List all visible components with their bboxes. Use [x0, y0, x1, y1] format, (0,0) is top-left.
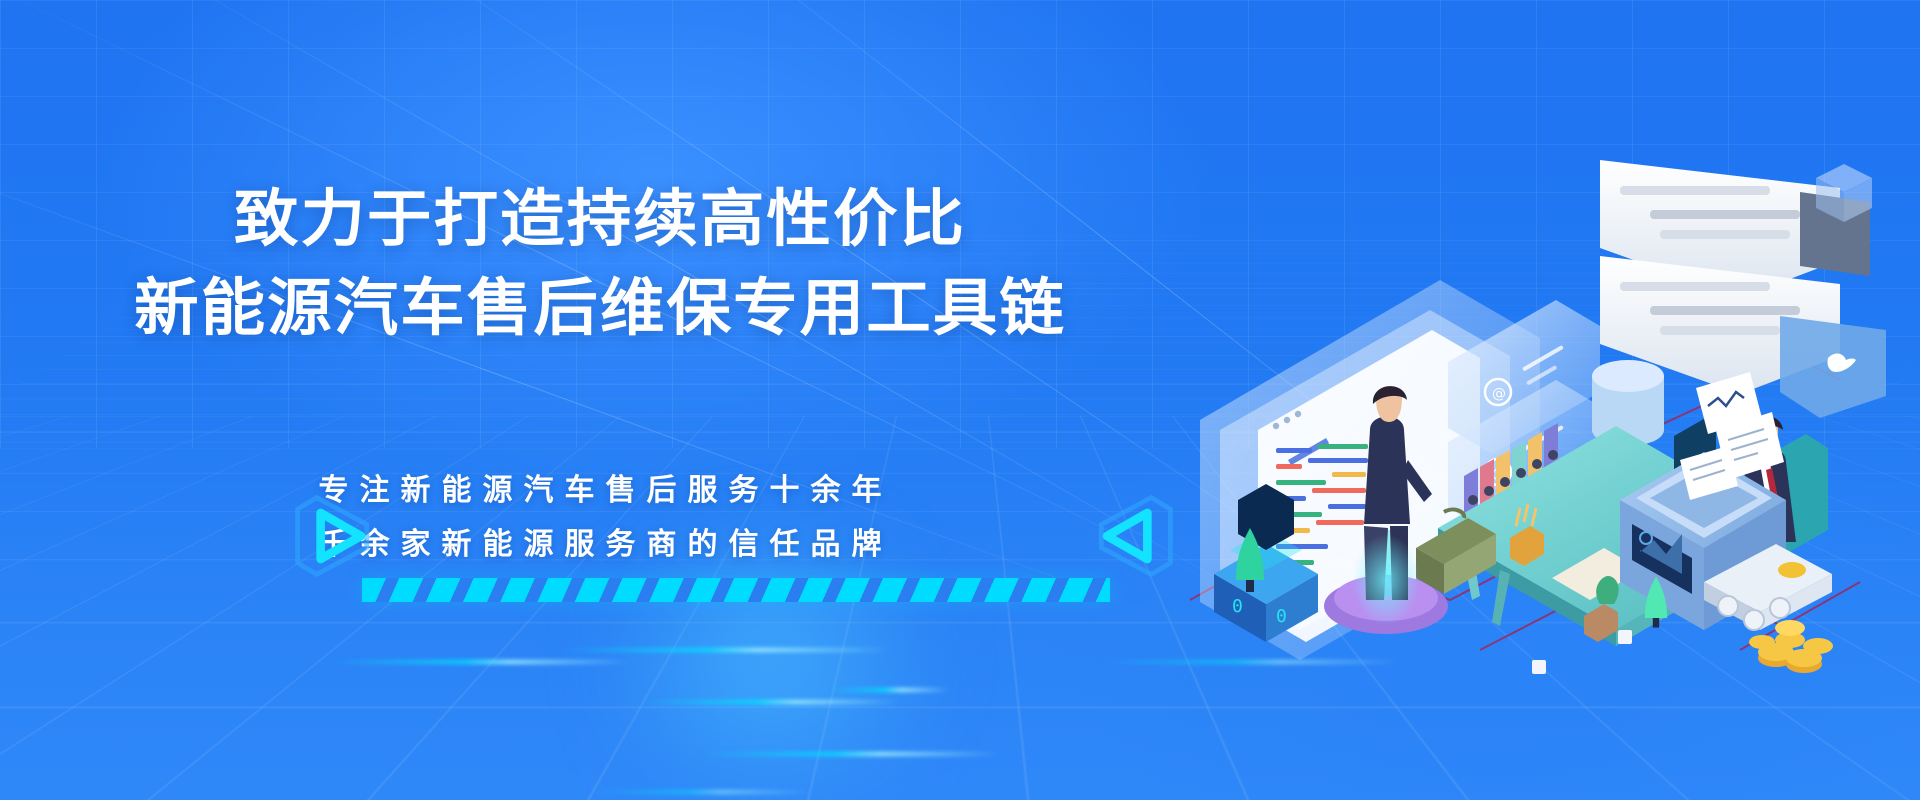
diagonal-stripe-bar: [362, 578, 1110, 602]
headline-line-2: 新能源汽车售后维保专用工具链: [0, 272, 1224, 344]
svg-text:0: 0: [1232, 596, 1243, 617]
headline-line-1: 致力于打造持续高性价比: [0, 183, 1224, 255]
triangle-left-icon: [1084, 488, 1180, 584]
subtitle-line-1: 专注新能源汽车售后服务十余年: [0, 468, 1200, 514]
cyan-glow-pillar: [1352, 534, 1420, 626]
copy-block: 致力于打造持续高性价比 新能源汽车售后维保专用工具链 专注新能源汽车售后服务十余…: [0, 0, 1200, 800]
isometric-office-teamwork-illustration: @ @: [1180, 130, 1920, 690]
hero-banner: 致力于打造持续高性价比 新能源汽车售后维保专用工具链 专注新能源汽车售后服务十余…: [0, 0, 1920, 800]
svg-text:0: 0: [1276, 606, 1287, 627]
bird-icon-card: [1780, 316, 1886, 418]
svg-text:@: @: [1492, 386, 1506, 402]
subtitle-line-2: 千余家新能源服务商的信任品牌: [0, 522, 1200, 568]
triangle-right-icon: [288, 488, 384, 584]
